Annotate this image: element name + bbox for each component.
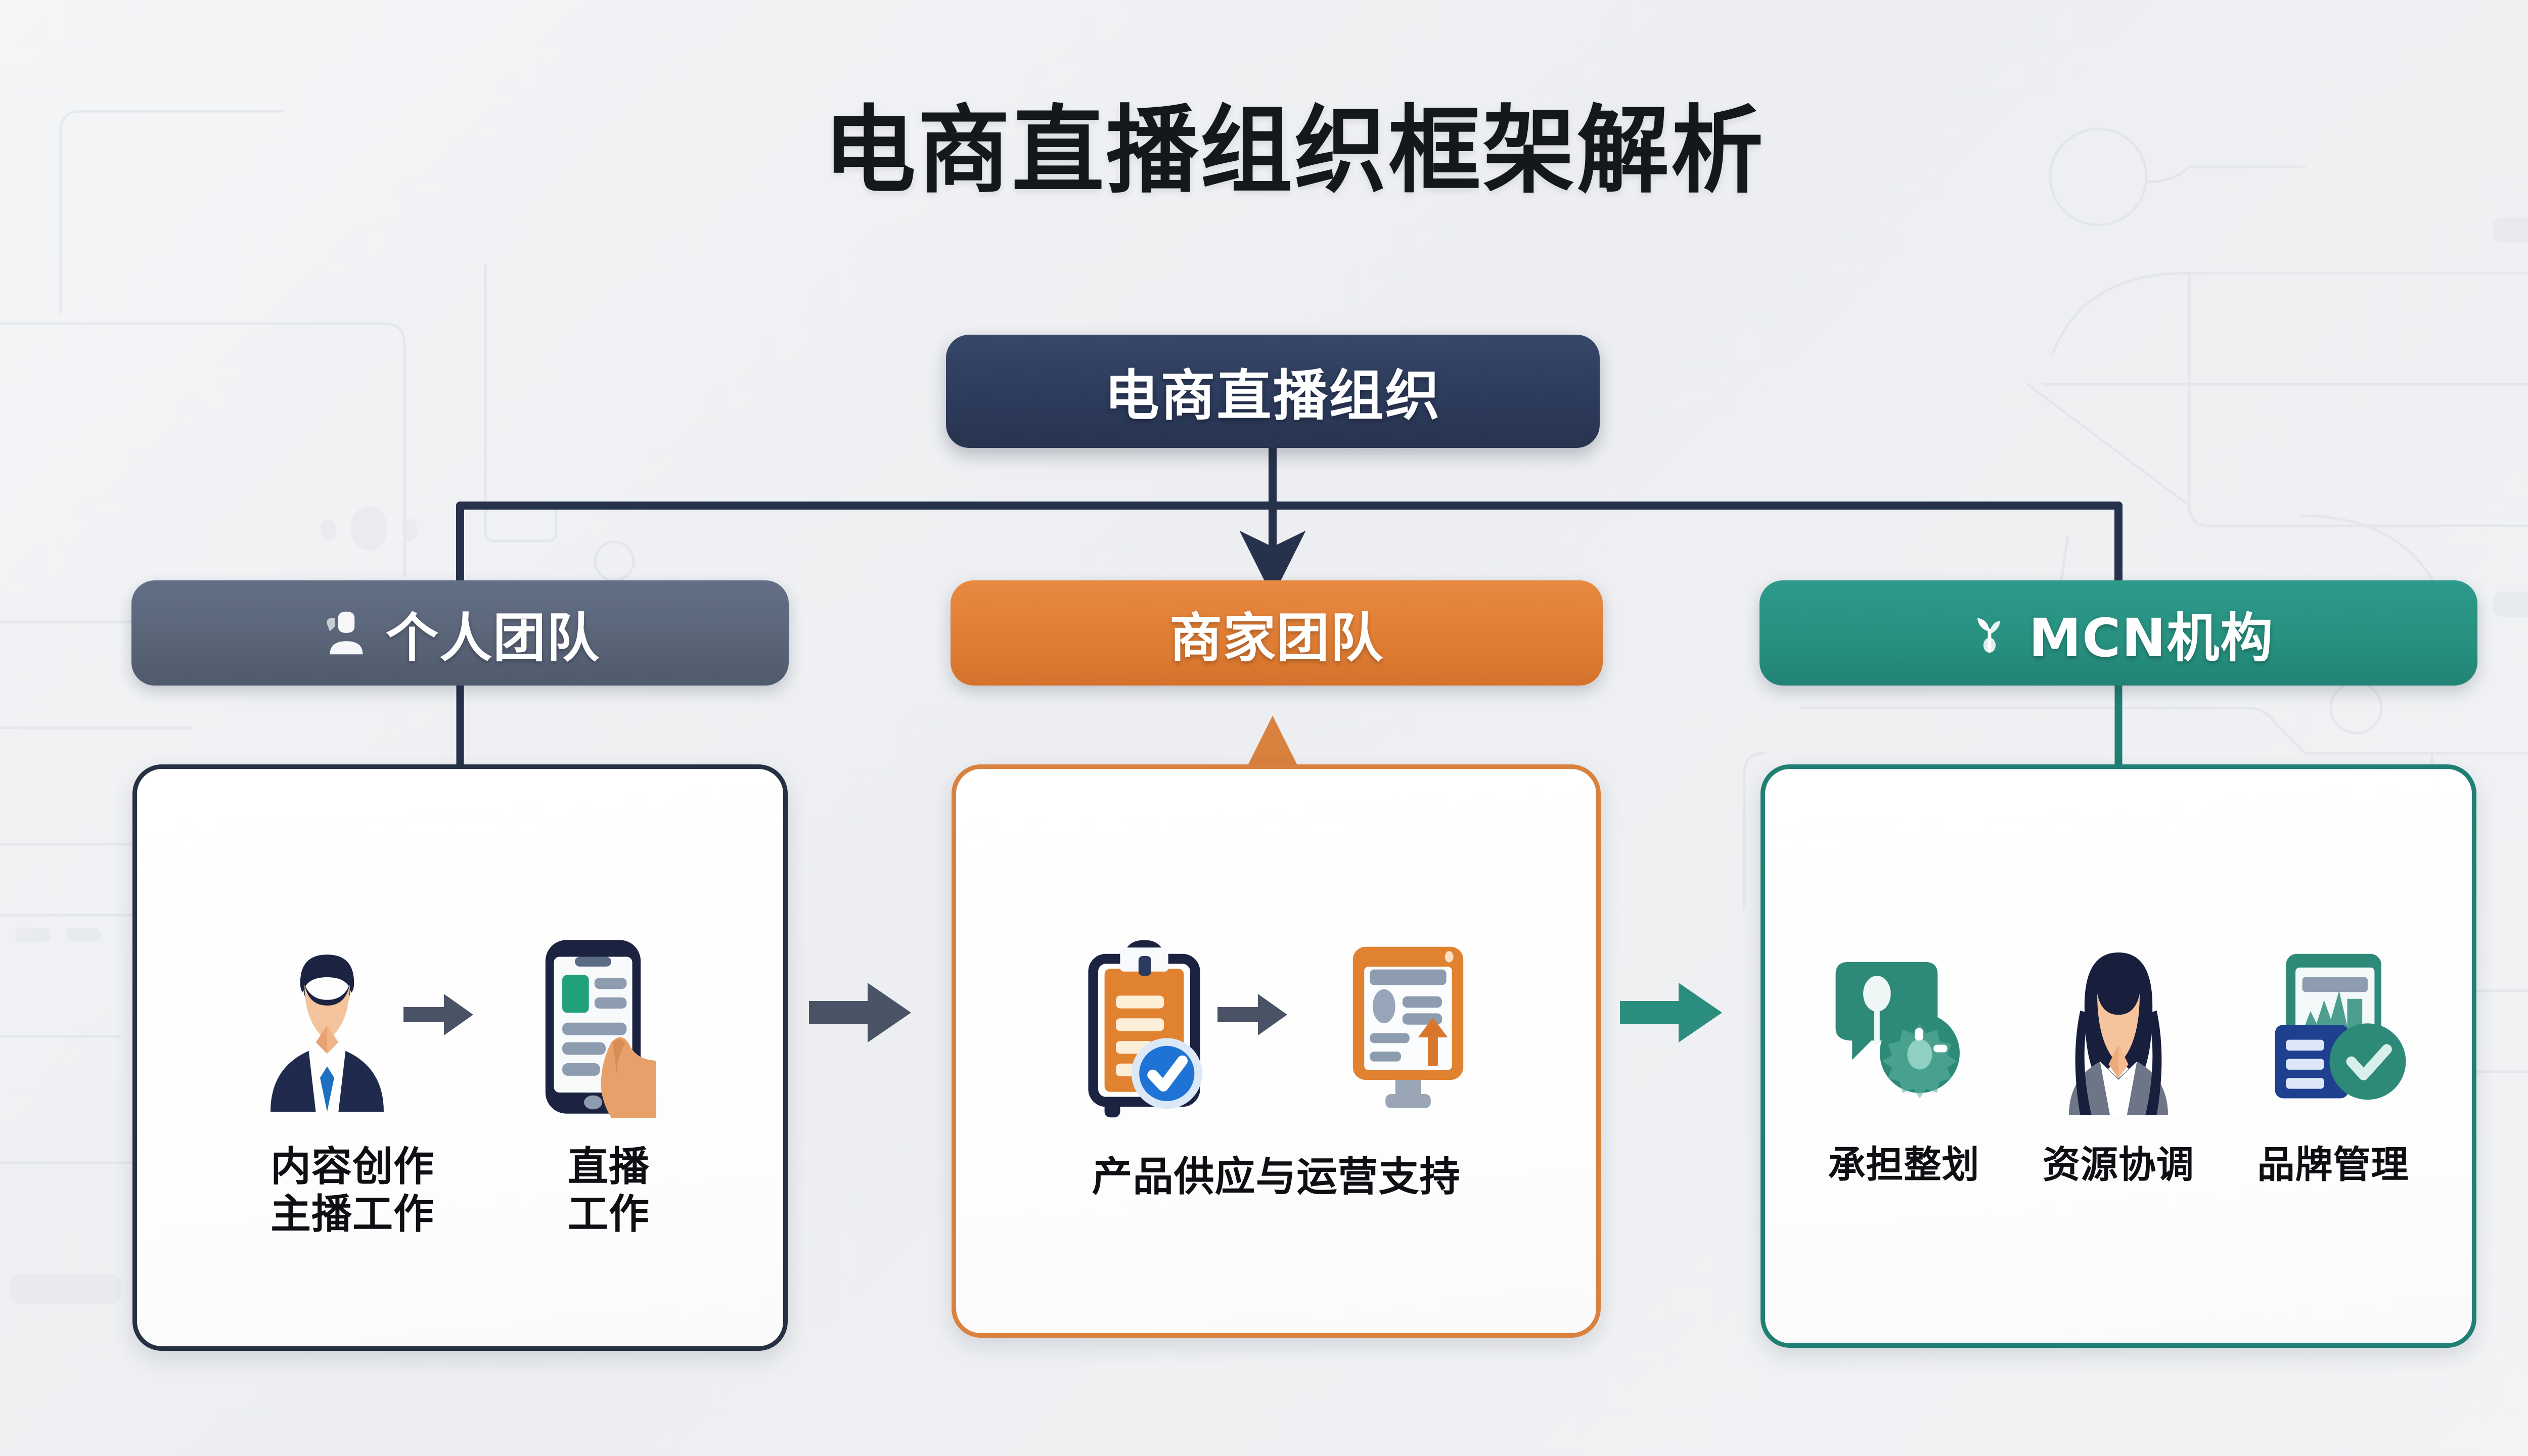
merchant-inner-flow-arrow	[1214, 987, 1290, 1042]
branch-card-personal: 内容创作 主播工作 直播 工作	[132, 764, 788, 1351]
personal-label-2: 直播 工作	[568, 1143, 650, 1239]
merchant-label-row: 产品供应与运营支持	[956, 1153, 1596, 1201]
personal-inner-flow-arrow	[400, 987, 476, 1042]
branch-header-mcn-label: MCN机构	[2029, 595, 2274, 671]
branch-header-personal-label: 个人团队	[386, 595, 600, 671]
woman-avatar-icon	[2033, 926, 2204, 1128]
chat-gear-icon	[1813, 926, 1985, 1128]
merchant-caption: 产品供应与运营支持	[1092, 1153, 1461, 1201]
clipboard-verified-icon	[1068, 926, 1220, 1128]
branch-header-merchant[interactable]: 商家团队	[951, 580, 1603, 686]
dashboard-growth-icon	[1332, 926, 1484, 1128]
sprout-icon	[1963, 607, 2016, 659]
flow-arrow-merchant-to-mcn	[1616, 975, 1725, 1051]
mcn-label-row: 承担整划 资源协调 品牌管理	[1765, 1143, 2472, 1187]
branch-header-personal[interactable]: 个人团队	[131, 580, 789, 686]
branch-card-mcn: 承担整划 资源协调 品牌管理	[1760, 764, 2476, 1348]
mcn-label-3: 品牌管理	[2258, 1143, 2409, 1187]
root-node-ecommerce-live-org[interactable]: 电商直播组织	[946, 335, 1600, 448]
personal-label-row: 内容创作 主播工作 直播 工作	[137, 1143, 783, 1239]
mcn-label-1: 承担整划	[1828, 1143, 1980, 1187]
mcn-icon-row	[1765, 921, 2472, 1133]
branch-header-merchant-label: 商家团队	[1169, 595, 1384, 671]
page-title: 电商直播组织框架解析	[0, 104, 2528, 199]
branch-card-merchant: 产品供应与运营支持	[952, 764, 1601, 1338]
mcn-label-2: 资源协调	[2043, 1143, 2194, 1187]
page-title-text: 电商直播组织框架解析	[824, 104, 1765, 199]
report-approved-icon	[2252, 926, 2424, 1128]
smartphone-tap-icon	[517, 926, 669, 1128]
branch-header-mcn[interactable]: MCN机构	[1759, 580, 2477, 686]
org-diagram: 电商直播组织 个人团队 商家团队 MCN机构	[0, 0, 2528, 1456]
person-icon	[320, 607, 373, 659]
flow-arrow-personal-to-merchant	[805, 975, 914, 1051]
root-node-label: 电商直播组织	[1104, 352, 1441, 431]
personal-label-1: 内容创作 主播工作	[270, 1143, 434, 1239]
businessman-avatar-icon	[251, 926, 403, 1128]
